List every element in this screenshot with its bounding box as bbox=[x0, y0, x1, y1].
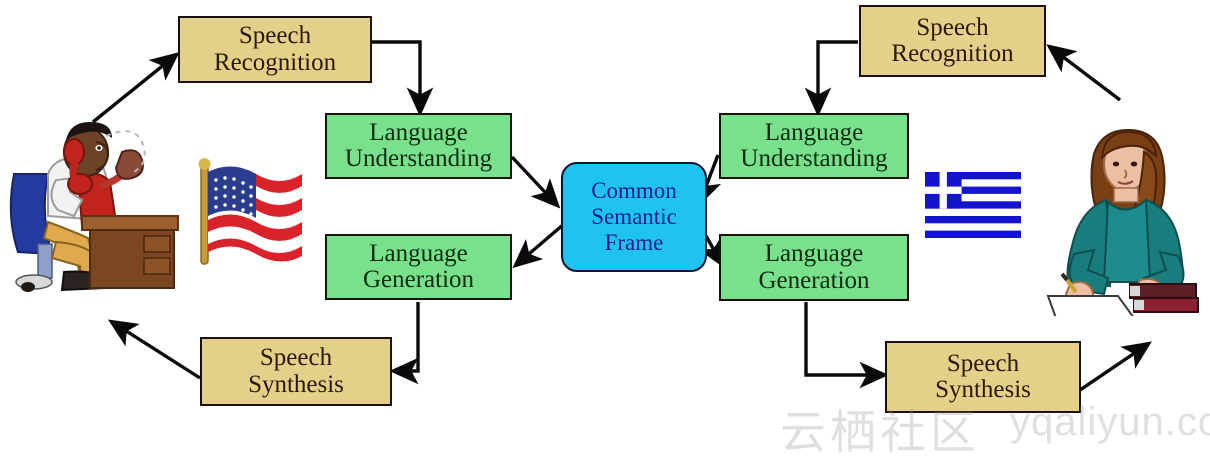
arrow-right-synthesis-to-speaker bbox=[1080, 344, 1148, 390]
arrow-right-generation-to-synthesis bbox=[806, 302, 884, 375]
box-right-speech-synthesis[interactable]: Speech Synthesis bbox=[885, 341, 1081, 413]
box-left-speech-synthesis-line2: Synthesis bbox=[248, 372, 344, 398]
box-right-language-generation-line1: Language bbox=[765, 241, 864, 267]
box-left-language-generation[interactable]: Language Generation bbox=[325, 234, 512, 300]
right-speaker-illustration bbox=[1046, 128, 1206, 316]
us-flag-icon bbox=[192, 148, 310, 268]
box-left-speech-recognition-line1: Speech bbox=[239, 23, 311, 49]
arrow-right-recognition-to-understanding bbox=[818, 42, 858, 112]
box-right-speech-synthesis-line2: Synthesis bbox=[935, 377, 1031, 403]
diagram-canvas: Speech Recognition Language Understandin… bbox=[0, 0, 1210, 447]
box-left-speech-recognition-line2: Recognition bbox=[214, 50, 336, 76]
box-right-language-generation-line2: Generation bbox=[758, 268, 869, 294]
box-right-language-understanding-line1: Language bbox=[765, 120, 864, 146]
arrow-left-recognition-to-understanding bbox=[372, 42, 420, 112]
arrow-left-speaker-to-recognition bbox=[93, 55, 176, 122]
box-common-semantic-frame[interactable]: Common Semantic Frame bbox=[561, 162, 707, 272]
box-right-speech-recognition[interactable]: Speech Recognition bbox=[859, 5, 1046, 77]
box-left-language-generation-line1: Language bbox=[369, 241, 468, 267]
box-right-language-understanding[interactable]: Language Understanding bbox=[719, 113, 909, 179]
common-semantic-frame-line2: Semantic bbox=[591, 204, 677, 230]
arrow-left-understanding-to-frame bbox=[512, 157, 557, 205]
box-right-speech-synthesis-line1: Speech bbox=[947, 351, 1019, 377]
common-semantic-frame-line1: Common bbox=[591, 178, 677, 204]
box-left-language-understanding[interactable]: Language Understanding bbox=[325, 113, 512, 179]
box-left-speech-synthesis-line1: Speech bbox=[260, 345, 332, 371]
arrow-left-synthesis-to-speaker bbox=[112, 322, 200, 378]
arrow-left-generation-to-synthesis bbox=[394, 302, 418, 371]
box-right-language-generation[interactable]: Language Generation bbox=[719, 234, 909, 301]
box-left-language-understanding-line1: Language bbox=[369, 120, 468, 146]
arrow-right-speaker-to-recognition bbox=[1050, 47, 1120, 100]
box-left-speech-synthesis[interactable]: Speech Synthesis bbox=[200, 337, 392, 406]
arrow-left-frame-to-generation bbox=[516, 224, 564, 265]
common-semantic-frame-line3: Frame bbox=[605, 230, 664, 256]
box-left-speech-recognition[interactable]: Speech Recognition bbox=[178, 16, 372, 83]
box-left-language-understanding-line2: Understanding bbox=[345, 146, 492, 172]
box-right-language-understanding-line2: Understanding bbox=[740, 146, 887, 172]
left-speaker-illustration bbox=[4, 122, 180, 314]
box-right-speech-recognition-line2: Recognition bbox=[891, 41, 1013, 67]
box-right-speech-recognition-line1: Speech bbox=[916, 15, 988, 41]
box-left-language-generation-line2: Generation bbox=[363, 267, 474, 293]
greece-flag-icon bbox=[925, 172, 1021, 238]
